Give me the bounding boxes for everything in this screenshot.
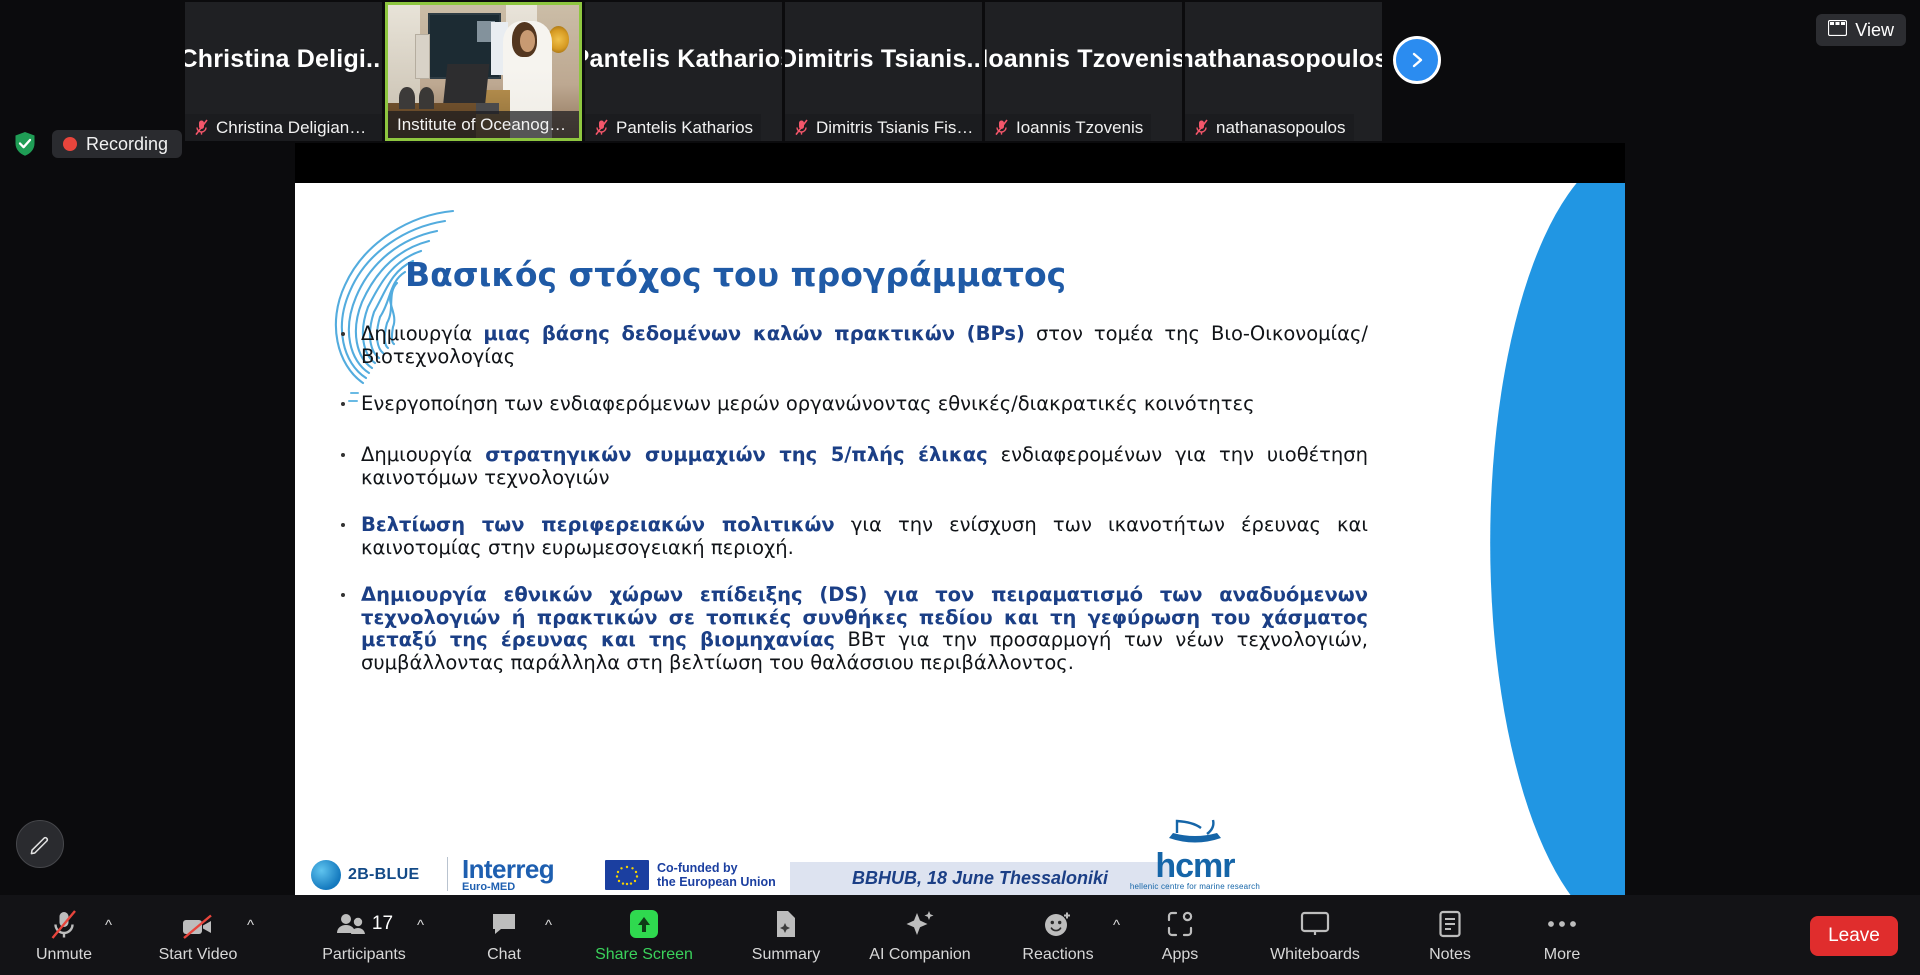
globe-icon bbox=[311, 860, 341, 890]
more-button[interactable]: More bbox=[1516, 895, 1608, 975]
logo-hcmr-label: hcmr bbox=[1130, 851, 1260, 882]
smiley-plus-icon bbox=[1043, 907, 1073, 941]
bullet-marker bbox=[341, 402, 345, 406]
logo-2b-blue-label: 2B-BLUE bbox=[348, 866, 419, 884]
slide-footer-banner: BBHUB, 18 June Thessaloniki bbox=[790, 862, 1170, 895]
tile-display-name: Ioannis Tzovenis bbox=[985, 45, 1182, 74]
logo-hcmr-sublabel: hellenic centre for marine research bbox=[1130, 882, 1260, 891]
camera-off-icon bbox=[180, 907, 216, 941]
notes-button[interactable]: Notes bbox=[1402, 895, 1498, 975]
leave-button[interactable]: Leave bbox=[1810, 916, 1898, 956]
more-label: More bbox=[1544, 946, 1580, 964]
reactions-button[interactable]: Reactions ^ bbox=[1000, 895, 1116, 975]
tile-name-bar: Christina Deligianni, In... bbox=[185, 114, 382, 141]
meeting-toolbar: Unmute ^ Start Video ^ 17 Participants ^… bbox=[0, 895, 1920, 975]
share-screen-icon bbox=[629, 907, 659, 941]
footer-divider bbox=[447, 857, 448, 891]
ellipsis-icon bbox=[1546, 907, 1578, 941]
recording-indicator[interactable]: Recording bbox=[52, 130, 182, 158]
mic-muted-icon bbox=[594, 119, 609, 136]
tile-name-label: Pantelis Katharios bbox=[616, 118, 753, 138]
tile-display-name: Dimitris Tsianis... bbox=[785, 45, 982, 74]
participant-tile[interactable]: Dimitris Tsianis... Dimitris Tsianis Fis… bbox=[785, 2, 982, 141]
participants-button[interactable]: 17 Participants ^ bbox=[300, 895, 428, 975]
participant-tile-active[interactable]: Institute of Oceanography bbox=[385, 2, 582, 141]
reactions-label: Reactions bbox=[1022, 946, 1093, 964]
bullet-text: Ενεργοποίηση των ενδιαφερόμενων μερών ορ… bbox=[361, 393, 1368, 416]
grid-view-icon bbox=[1828, 20, 1847, 41]
participant-tile[interactable]: Pantelis Katharios Pantelis Katharios bbox=[585, 2, 782, 141]
mic-muted-icon bbox=[1194, 119, 1209, 136]
tile-display-name: nathanasopoulos bbox=[1185, 45, 1382, 74]
view-button-label: View bbox=[1855, 20, 1894, 41]
tile-name-bar: Ioannis Tzovenis bbox=[985, 114, 1151, 141]
tile-name-label: Ioannis Tzovenis bbox=[1016, 118, 1143, 138]
shared-screen-area[interactable]: Βασικός στόχος του προγράμματος Δημιουργ… bbox=[295, 143, 1625, 895]
zoom-meeting-window: Christina Deligi... Christina Deligianni… bbox=[0, 0, 1920, 975]
bullet-marker bbox=[341, 453, 345, 457]
participants-label: Participants bbox=[322, 946, 406, 964]
chat-options-caret-icon[interactable]: ^ bbox=[545, 917, 552, 934]
presentation-slide: Βασικός στόχος του προγράμματος Δημιουργ… bbox=[295, 183, 1625, 895]
reactions-options-caret-icon[interactable]: ^ bbox=[1113, 917, 1120, 934]
whiteboard-icon bbox=[1300, 907, 1330, 941]
slide-footer: 2B-BLUE Interreg Euro-MED bbox=[295, 837, 1370, 895]
participant-tile[interactable]: Christina Deligi... Christina Deligianni… bbox=[185, 2, 382, 141]
participant-tile[interactable]: nathanasopoulos nathanasopoulos bbox=[1185, 2, 1382, 141]
notes-icon bbox=[1438, 907, 1462, 941]
whiteboards-label: Whiteboards bbox=[1270, 946, 1360, 964]
mic-muted-icon bbox=[194, 119, 209, 136]
tile-name-bar: Dimitris Tsianis Fisheri... bbox=[785, 114, 982, 141]
participant-filmstrip: Christina Deligi... Christina Deligianni… bbox=[0, 0, 1920, 143]
sparkles-icon bbox=[904, 907, 936, 941]
notes-label: Notes bbox=[1429, 946, 1471, 964]
logo-2b-blue: 2B-BLUE bbox=[311, 860, 419, 890]
participant-tile[interactable]: Ioannis Tzovenis Ioannis Tzovenis bbox=[985, 2, 1182, 141]
slide-wave-decoration bbox=[1435, 183, 1625, 895]
slide-footer-banner-label: BBHUB, 18 June Thessaloniki bbox=[852, 868, 1108, 889]
mic-muted-icon bbox=[994, 119, 1009, 136]
video-options-caret-icon[interactable]: ^ bbox=[247, 917, 254, 934]
whiteboards-button[interactable]: Whiteboards bbox=[1246, 895, 1384, 975]
microphone-muted-icon bbox=[49, 907, 79, 941]
logo-european-union: Co-funded bythe European Union bbox=[605, 860, 776, 890]
pencil-icon[interactable] bbox=[16, 820, 64, 868]
logo-hcmr: hcmr hellenic centre for marine research bbox=[1130, 816, 1260, 891]
tile-name-label: Christina Deligianni, In... bbox=[216, 118, 374, 138]
slide-bullet: Βελτίωση των περιφερειακών πολιτικών για… bbox=[333, 514, 1368, 560]
recording-dot-icon bbox=[63, 137, 77, 151]
bullet-marker bbox=[341, 332, 345, 336]
slide-bullet: Ενεργοποίηση των ενδιαφερόμενων μερών ορ… bbox=[333, 393, 1368, 416]
unmute-button[interactable]: Unmute ^ bbox=[8, 895, 120, 975]
leave-label: Leave bbox=[1828, 925, 1880, 947]
view-button[interactable]: View bbox=[1816, 14, 1906, 46]
slide-bullet: Δημιουργία στρατηγικών συμμαχιών της 5/π… bbox=[333, 444, 1368, 490]
share-screen-button[interactable]: Share Screen bbox=[576, 895, 712, 975]
audio-options-caret-icon[interactable]: ^ bbox=[105, 917, 112, 934]
summary-button[interactable]: Summary bbox=[730, 895, 842, 975]
slide-bullet-list: Δημιουργία μιας βάσης δεδομένων καλών πρ… bbox=[333, 323, 1368, 699]
logo-interreg: Interreg Euro-MED bbox=[462, 857, 554, 893]
tile-name-bar: nathanasopoulos bbox=[1185, 114, 1354, 141]
chat-bubble-icon bbox=[490, 907, 518, 941]
participants-options-caret-icon[interactable]: ^ bbox=[417, 917, 424, 934]
eu-funding-text: Co-funded bythe European Union bbox=[657, 861, 776, 890]
ai-companion-label: AI Companion bbox=[869, 946, 970, 964]
chat-label: Chat bbox=[487, 946, 521, 964]
start-video-label: Start Video bbox=[159, 946, 238, 964]
start-video-button[interactable]: Start Video ^ bbox=[138, 895, 258, 975]
bullet-text: Δημιουργία εθνικών χώρων επίδειξης (DS) … bbox=[361, 584, 1368, 675]
tile-name-bar: Institute of Oceanography bbox=[388, 111, 579, 138]
apps-label: Apps bbox=[1162, 946, 1198, 964]
slide-bullet: Δημιουργία μιας βάσης δεδομένων καλών πρ… bbox=[333, 323, 1368, 369]
summary-label: Summary bbox=[752, 946, 820, 964]
recording-label: Recording bbox=[86, 134, 168, 155]
unmute-label: Unmute bbox=[36, 946, 92, 964]
shield-check-icon[interactable] bbox=[12, 130, 38, 157]
slide-title: Βασικός στόχος του προγράμματος bbox=[405, 255, 1066, 294]
bullet-text: Δημιουργία μιας βάσης δεδομένων καλών πρ… bbox=[361, 323, 1368, 369]
summary-doc-icon bbox=[773, 907, 799, 941]
eu-flag-icon bbox=[605, 860, 649, 890]
apps-icon bbox=[1166, 907, 1194, 941]
tile-display-name: Pantelis Katharios bbox=[585, 45, 782, 74]
bullet-text: Βελτίωση των περιφερειακών πολιτικών για… bbox=[361, 514, 1368, 560]
hcmr-ship-icon bbox=[1163, 816, 1227, 846]
bullet-text: Δημιουργία στρατηγικών συμμαχιών της 5/π… bbox=[361, 444, 1368, 490]
slide-bullet: Δημιουργία εθνικών χώρων επίδειξης (DS) … bbox=[333, 584, 1368, 675]
bullet-marker bbox=[341, 523, 345, 527]
tile-display-name: Christina Deligi... bbox=[185, 45, 382, 74]
tile-name-label: nathanasopoulos bbox=[1216, 118, 1346, 138]
apps-button[interactable]: Apps bbox=[1136, 895, 1224, 975]
tile-name-label: Institute of Oceanography bbox=[397, 115, 571, 135]
tile-name-bar: Pantelis Katharios bbox=[585, 114, 761, 141]
participants-icon: 17 bbox=[335, 907, 393, 941]
participants-count: 17 bbox=[372, 913, 393, 935]
tile-name-label: Dimitris Tsianis Fisheri... bbox=[816, 118, 974, 138]
chevron-right-icon[interactable] bbox=[1393, 36, 1441, 84]
chat-button[interactable]: Chat ^ bbox=[458, 895, 550, 975]
mic-muted-icon bbox=[794, 119, 809, 136]
ai-companion-button[interactable]: AI Companion bbox=[846, 895, 994, 975]
logo-interreg-label: Interreg bbox=[462, 857, 554, 882]
share-screen-label: Share Screen bbox=[595, 946, 693, 964]
bullet-marker bbox=[341, 593, 345, 597]
